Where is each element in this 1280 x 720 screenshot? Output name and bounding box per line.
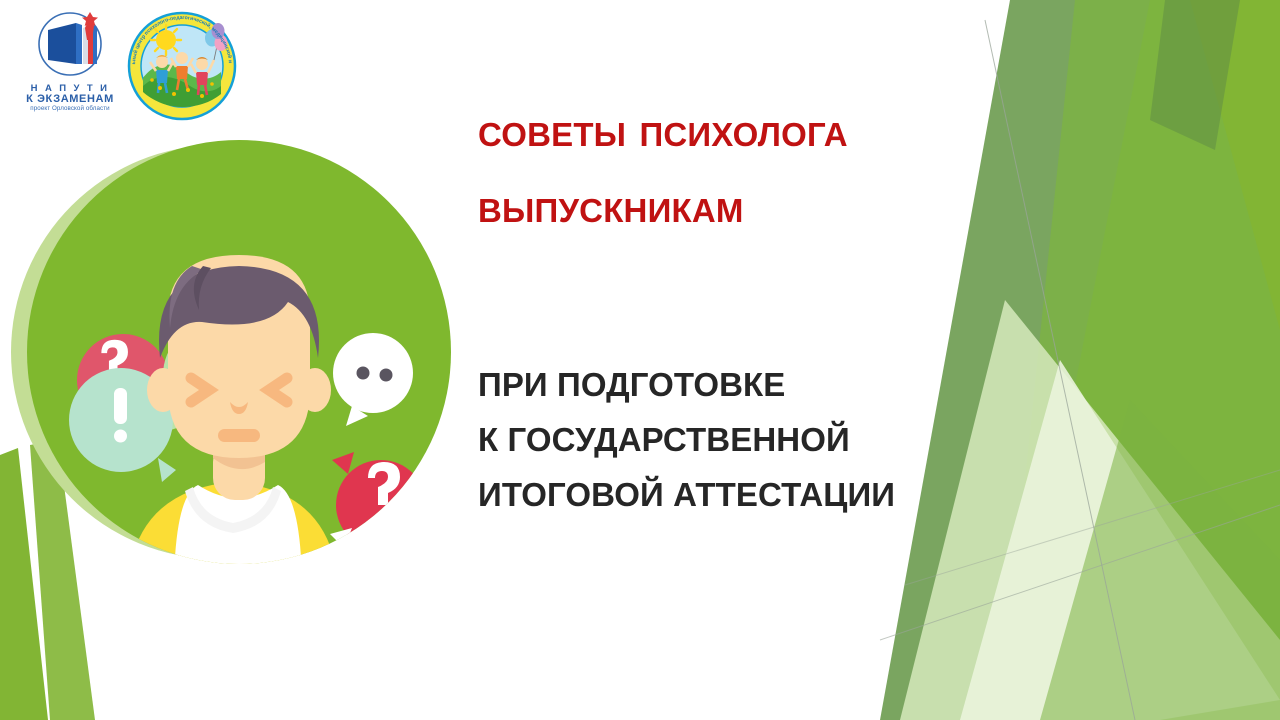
deco-shape-bright-right xyxy=(1010,0,1280,720)
presentation-slide: Н А П У Т И К ЭКЗАМЕНАМ проект Орловской… xyxy=(0,0,1280,720)
logo-strip: Н А П У Т И К ЭКЗАМЕНАМ проект Орловской… xyxy=(0,0,260,132)
deco-shape-mid-right xyxy=(1000,0,1280,720)
slide-subtitle: ПРИ ПОДГОТОВКЕ К ГОСУДАРСТВЕННОЙ ИТОГОВО… xyxy=(478,358,1018,522)
deco-shape-mid-lower-right xyxy=(1040,400,1280,720)
slide-title: Советы психолога выпускникам xyxy=(478,92,1008,244)
book-with-figure-logo-icon xyxy=(30,8,110,86)
subtitle-line-2: К ГОСУДАРСТВЕННОЙ xyxy=(478,413,1018,468)
subtitle-line-1: ПРИ ПОДГОТОВКЕ xyxy=(478,358,1018,413)
logo-line-3: проект Орловской области xyxy=(14,106,126,112)
confused-student-illustration xyxy=(8,140,458,580)
deco-shape-dark-notch xyxy=(1150,0,1240,150)
logo-exam-text: Н А П У Т И К ЭКЗАМЕНАМ проект Орловской… xyxy=(14,84,126,113)
deco-hairline-2 xyxy=(880,505,1280,640)
logo-exam-project: Н А П У Т И К ЭКЗАМЕНАМ проект Орловской… xyxy=(14,8,126,120)
logo-line-2: К ЭКЗАМЕНАМ xyxy=(14,94,126,105)
student-mouth xyxy=(218,429,260,442)
subtitle-line-3: ИТОГОВОЙ АТТЕСТАЦИИ xyxy=(478,468,1018,523)
bubble-ellipsis-bottom-right xyxy=(329,528,421,580)
children-on-hill-emblem-icon: Орловский региональный центр психолого-п… xyxy=(126,10,238,122)
